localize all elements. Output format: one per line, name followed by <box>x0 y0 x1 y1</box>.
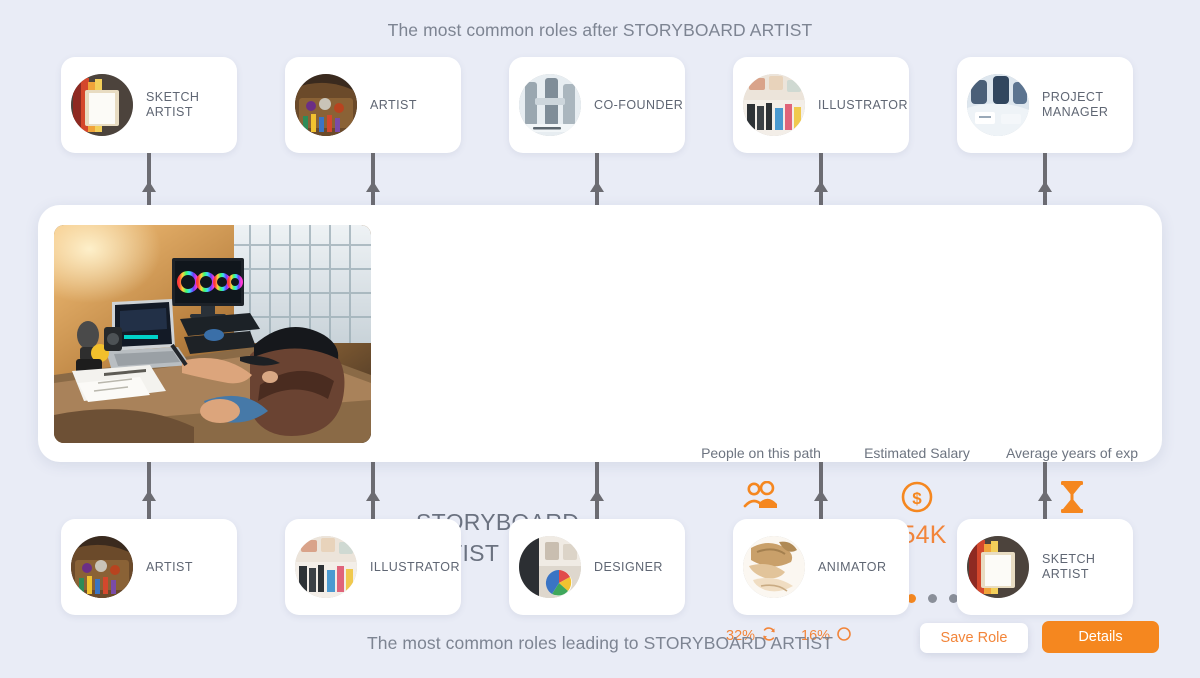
role-card-label: ARTIST <box>146 560 193 575</box>
stat-label: People on this path <box>678 445 844 461</box>
people-icon <box>678 477 844 517</box>
dollar-circle-icon: $ <box>834 477 1000 517</box>
caption-roles-leading-to: The most common roles leading to STORYBO… <box>0 633 1200 654</box>
art-desk-photo <box>295 536 357 598</box>
roles-after-row: SKETCHARTIST ARTIST CO-FOUNDER <box>0 57 1200 153</box>
svg-text:$: $ <box>912 489 922 508</box>
role-card[interactable]: SKETCHARTIST <box>61 57 237 153</box>
connector-arrow-up-icon <box>1038 153 1052 210</box>
role-card-label: ANIMATOR <box>818 560 886 575</box>
stat-label: Estimated Salary <box>834 445 1000 461</box>
paint-supplies-photo <box>295 74 357 136</box>
role-card-label: ILLUSTRATOR <box>370 560 460 575</box>
current-role-card[interactable]: STORYBOARDARTIST People on this path 19 … <box>38 205 1162 462</box>
connector-arrow-up-icon <box>814 153 828 210</box>
connector-arrow-up-icon <box>142 153 156 210</box>
role-card[interactable]: DESIGNER <box>509 519 685 615</box>
role-card-label: SKETCHARTIST <box>146 90 199 120</box>
role-card-label: ARTIST <box>370 98 417 113</box>
office-people-photo <box>519 74 581 136</box>
connector-arrow-up-icon <box>366 153 380 210</box>
connector-arrow-up-icon <box>590 153 604 210</box>
role-card[interactable]: ILLUSTRATOR <box>733 57 909 153</box>
paint-supplies-photo <box>71 536 133 598</box>
role-card[interactable]: ARTIST <box>285 57 461 153</box>
art-desk-photo <box>743 74 805 136</box>
role-card[interactable]: ANIMATOR <box>733 519 909 615</box>
role-card-label: PROJECTMANAGER <box>1042 90 1108 120</box>
role-card[interactable]: SKETCHARTIST <box>957 519 1133 615</box>
connector-arrow-up-icon <box>142 462 156 519</box>
meeting-table-photo <box>967 74 1029 136</box>
role-card-label: SKETCHARTIST <box>1042 552 1095 582</box>
role-card-label: CO-FOUNDER <box>594 98 683 113</box>
hands-drawing-photo <box>743 536 805 598</box>
sketch-pad-photo <box>967 536 1029 598</box>
role-card-label: DESIGNER <box>594 560 663 575</box>
connector-arrow-up-icon <box>366 462 380 519</box>
sketch-pad-photo <box>71 74 133 136</box>
role-card[interactable]: CO-FOUNDER <box>509 57 685 153</box>
stat-label: Average years of exp <box>989 445 1155 461</box>
role-card[interactable]: PROJECTMANAGER <box>957 57 1133 153</box>
roles-before-row: ARTIST ILLUSTRATOR DESIGNER <box>0 519 1200 615</box>
connector-arrow-up-icon <box>590 462 604 519</box>
role-card-label: ILLUSTRATOR <box>818 98 908 113</box>
role-card[interactable]: ARTIST <box>61 519 237 615</box>
caption-roles-after: The most common roles after STORYBOARD A… <box>0 20 1200 41</box>
design-desk-photo <box>519 536 581 598</box>
role-card[interactable]: ILLUSTRATOR <box>285 519 461 615</box>
hourglass-icon <box>989 477 1155 517</box>
